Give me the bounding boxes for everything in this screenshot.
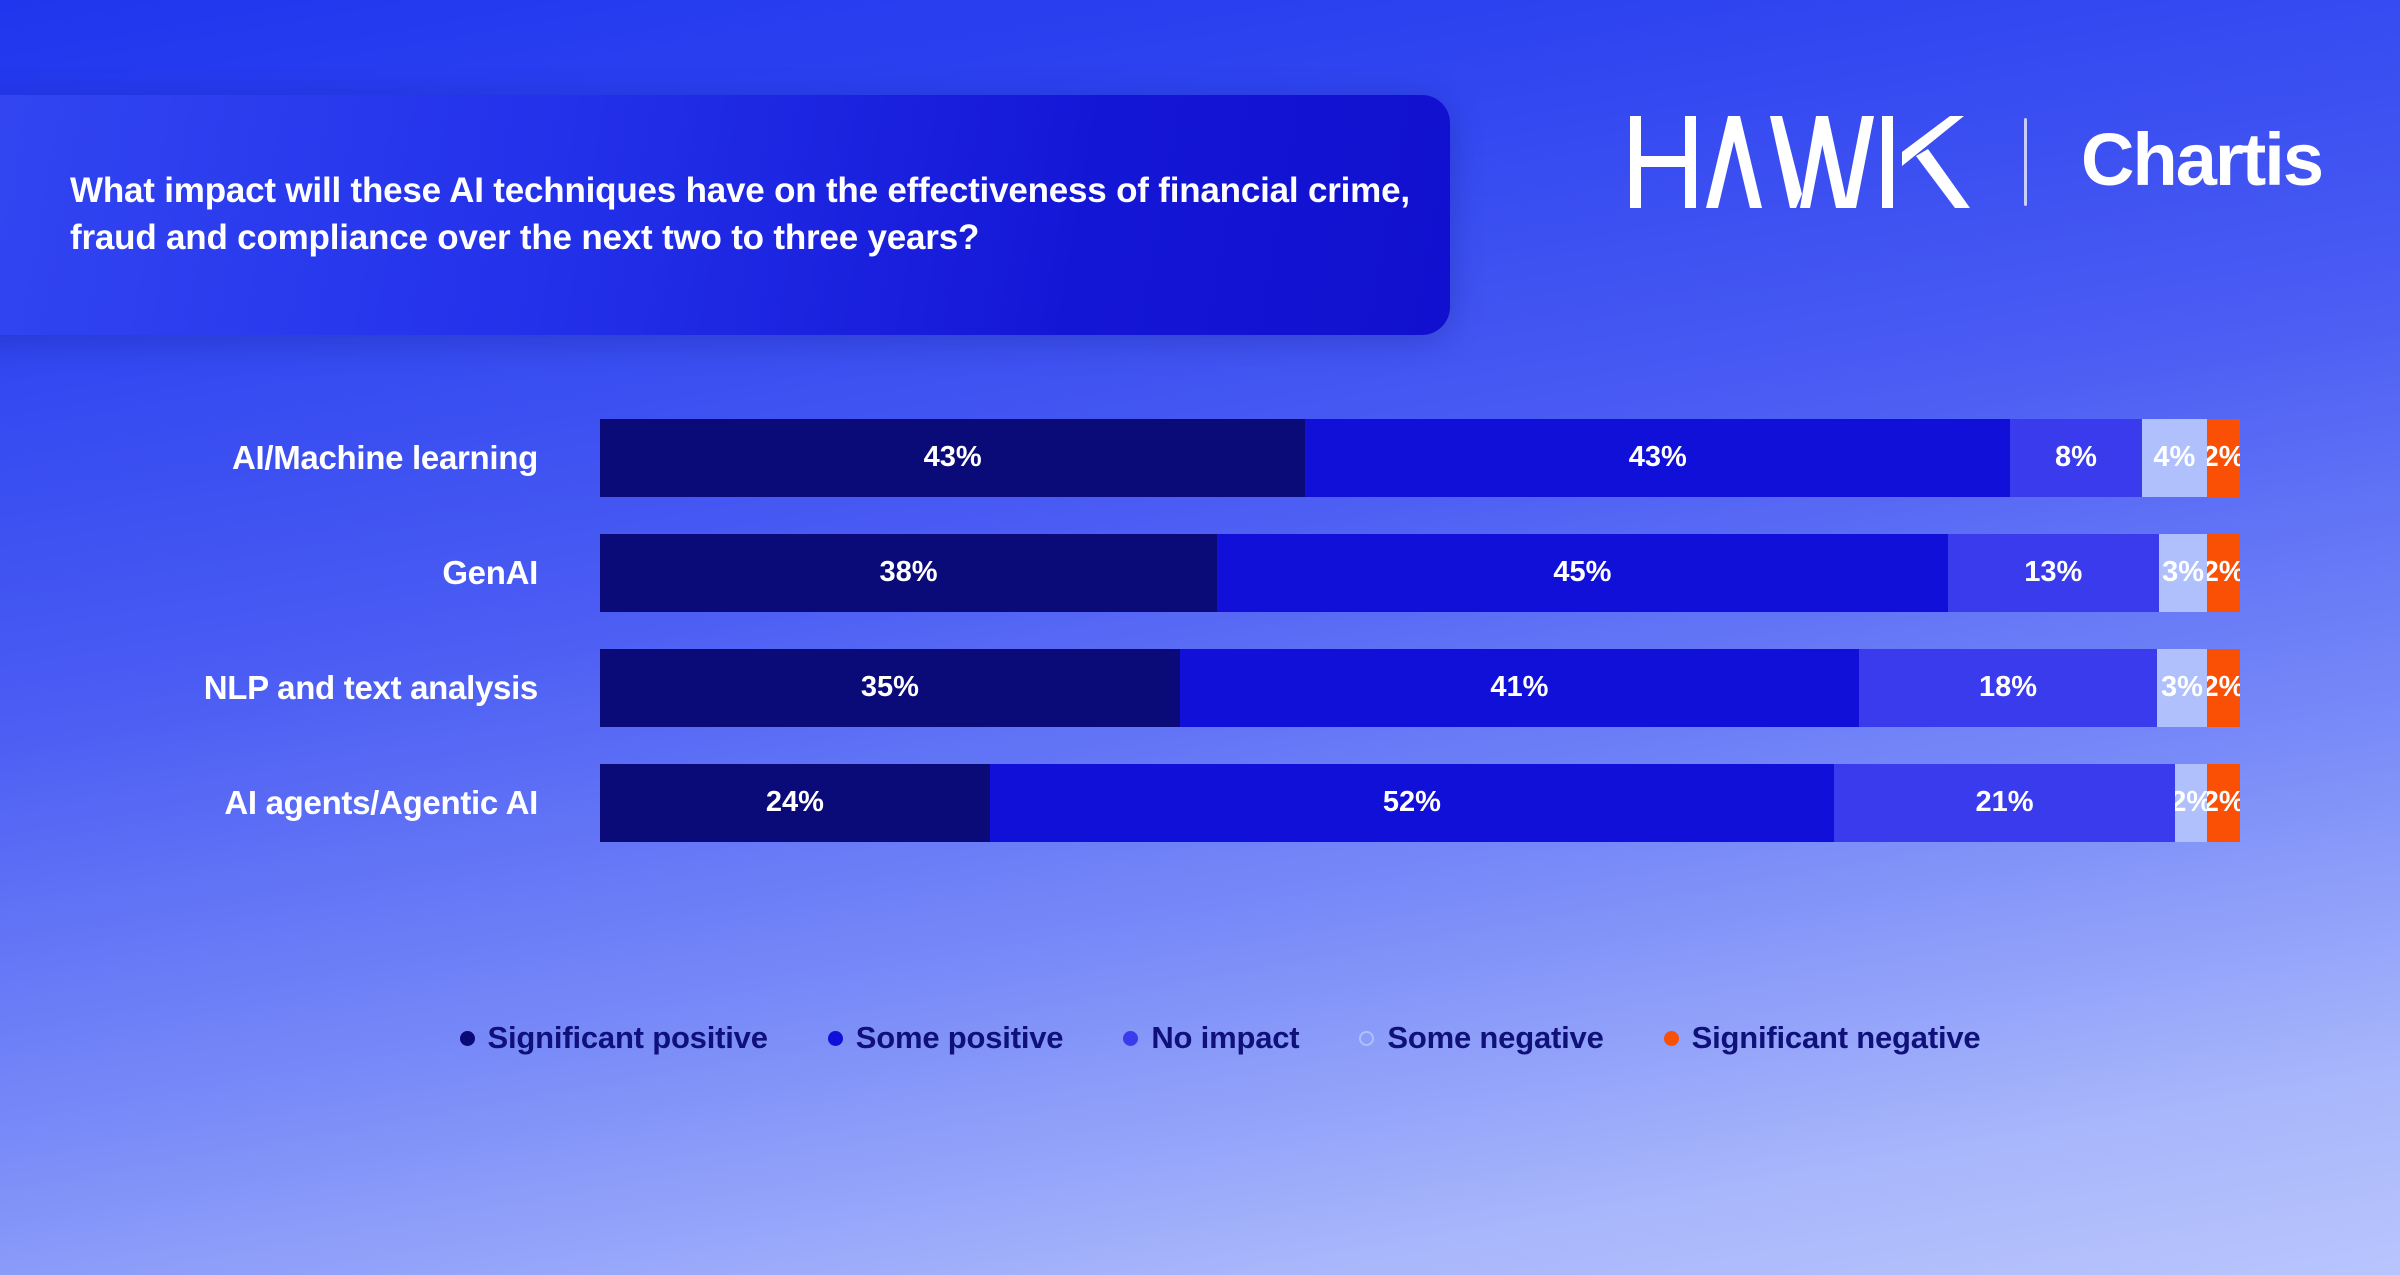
bar-row: GenAI38%45%13%3%2%	[0, 515, 2400, 630]
bar-segment[interactable]: 2%	[2207, 649, 2240, 727]
bar-segment[interactable]: 24%	[600, 764, 990, 842]
bar-segment-value: 43%	[1629, 441, 1687, 474]
legend-dot-icon	[460, 1031, 475, 1046]
bar-segment[interactable]: 45%	[1217, 534, 1948, 612]
bar-segment[interactable]: 43%	[1305, 419, 2010, 497]
bar-row-label: NLP and text analysis	[0, 669, 600, 707]
legend-dot-icon	[1123, 1031, 1138, 1046]
legend-dot-icon	[1359, 1031, 1374, 1046]
bar-segment-value: 38%	[879, 556, 937, 589]
bar-segment-value: 3%	[2161, 671, 2203, 704]
bar-segment-value: 24%	[766, 786, 824, 819]
bar-segment-value: 2%	[2207, 786, 2239, 819]
legend-label: Significant negative	[1692, 1020, 1981, 1056]
bar-segment[interactable]: 3%	[2159, 534, 2208, 612]
bar-segment-value: 2%	[2207, 441, 2240, 474]
bar-segment-value: 45%	[1553, 556, 1611, 589]
bar-segment[interactable]: 13%	[1948, 534, 2159, 612]
bar-track: 38%45%13%3%2%	[600, 534, 2240, 612]
hawk-wordmark-icon	[1630, 116, 1970, 208]
bar-row-label: GenAI	[0, 554, 600, 592]
legend-label: Some negative	[1387, 1020, 1603, 1056]
bar-track: 24%52%21%2%2%	[600, 764, 2240, 842]
bar-segment[interactable]: 2%	[2207, 764, 2239, 842]
bar-segment[interactable]: 3%	[2157, 649, 2207, 727]
bar-segment-value: 2%	[2207, 671, 2240, 704]
legend-item[interactable]: Significant negative	[1664, 1020, 1981, 1056]
legend-label: Significant positive	[488, 1020, 768, 1056]
bar-track: 35%41%18%3%2%	[600, 649, 2240, 727]
chartis-wordmark: Chartis	[2081, 123, 2322, 201]
brand-lockup: Chartis	[1630, 112, 2322, 212]
legend-item[interactable]: No impact	[1123, 1020, 1299, 1056]
bar-segment[interactable]: 35%	[600, 649, 1180, 727]
bar-segment-value: 3%	[2162, 556, 2204, 589]
bar-segment-value: 41%	[1490, 671, 1548, 704]
bar-segment-value: 2%	[2207, 556, 2239, 589]
legend-item[interactable]: Some negative	[1359, 1020, 1603, 1056]
bar-segment[interactable]: 41%	[1180, 649, 1859, 727]
bar-segment-value: 13%	[2024, 556, 2082, 589]
chart-legend: Significant positiveSome positiveNo impa…	[0, 1020, 2400, 1056]
bar-segment[interactable]: 43%	[600, 419, 1305, 497]
bar-segment-value: 43%	[924, 441, 982, 474]
bar-segment-value: 4%	[2153, 441, 2195, 474]
legend-dot-icon	[1664, 1031, 1679, 1046]
bar-segment-value: 18%	[1979, 671, 2037, 704]
bar-segment[interactable]: 2%	[2175, 764, 2207, 842]
stacked-bar-chart: AI/Machine learning43%43%8%4%2%GenAI38%4…	[0, 400, 2400, 860]
bar-segment[interactable]: 38%	[600, 534, 1217, 612]
bar-segment[interactable]: 4%	[2142, 419, 2208, 497]
bar-segment-value: 35%	[861, 671, 919, 704]
bar-segment[interactable]: 8%	[2010, 419, 2141, 497]
bar-row: AI/Machine learning43%43%8%4%2%	[0, 400, 2400, 515]
bar-segment[interactable]: 52%	[990, 764, 1834, 842]
bar-row-label: AI/Machine learning	[0, 439, 600, 477]
title-card: What impact will these AI techniques hav…	[0, 95, 1450, 335]
bar-row: AI agents/Agentic AI24%52%21%2%2%	[0, 745, 2400, 860]
bar-segment-value: 52%	[1383, 786, 1441, 819]
bar-segment-value: 2%	[2175, 786, 2207, 819]
bar-segment-value: 21%	[1976, 786, 2034, 819]
bar-segment[interactable]: 18%	[1859, 649, 2157, 727]
logo-divider	[2024, 118, 2027, 206]
page-title: What impact will these AI techniques hav…	[70, 168, 1440, 262]
bar-segment[interactable]: 2%	[2207, 419, 2240, 497]
legend-dot-icon	[828, 1031, 843, 1046]
bar-row: NLP and text analysis35%41%18%3%2%	[0, 630, 2400, 745]
legend-item[interactable]: Some positive	[828, 1020, 1064, 1056]
legend-label: Some positive	[856, 1020, 1064, 1056]
legend-label: No impact	[1151, 1020, 1299, 1056]
bar-track: 43%43%8%4%2%	[600, 419, 2240, 497]
bar-row-label: AI agents/Agentic AI	[0, 784, 600, 822]
bar-segment[interactable]: 2%	[2207, 534, 2239, 612]
infographic-canvas: What impact will these AI techniques hav…	[0, 0, 2400, 1275]
bar-segment[interactable]: 21%	[1834, 764, 2175, 842]
legend-item[interactable]: Significant positive	[460, 1020, 768, 1056]
bar-segment-value: 8%	[2055, 441, 2097, 474]
hawk-logo	[1630, 116, 1970, 208]
